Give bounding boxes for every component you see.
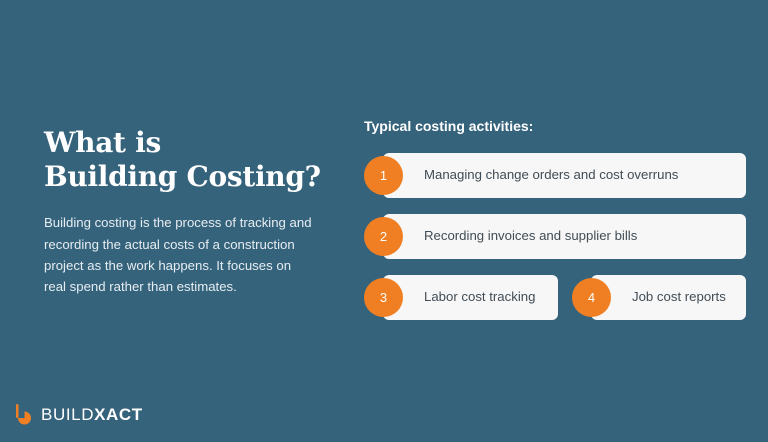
activity-badge-2: 2 — [364, 217, 403, 256]
activities-heading: Typical costing activities: — [364, 118, 746, 135]
list-item-1[interactable]: Managing change orders and cost overruns… — [364, 153, 746, 198]
description-paragraph: Building costing is the process of track… — [44, 212, 316, 298]
brand-logo: BUILDXACT — [15, 401, 143, 427]
page-title-line-2: Building Costing? — [44, 160, 344, 194]
activity-label-1: Managing change orders and cost overruns — [424, 167, 678, 183]
activity-badge-1: 1 — [364, 156, 403, 195]
activity-row-2: Recording invoices and supplier bills 2 — [364, 214, 746, 259]
brand-wordmark: BUILDXACT — [41, 406, 143, 423]
activity-row-3: Labor cost tracking 3 Job cost reports 4 — [364, 275, 746, 320]
list-item-4[interactable]: Job cost reports 4 — [572, 275, 746, 320]
activity-badge-3: 3 — [364, 278, 403, 317]
activity-row-1: Managing change orders and cost overruns… — [364, 153, 746, 198]
activities-panel: Typical costing activities: Managing cha… — [364, 118, 746, 320]
activity-label-4: Job cost reports — [632, 289, 726, 305]
brand-wordmark-build: BUILD — [41, 406, 94, 423]
activity-card-4[interactable]: Job cost reports — [591, 275, 746, 320]
activity-card-3[interactable]: Labor cost tracking — [383, 275, 558, 320]
buildxact-b-mark-icon — [15, 403, 34, 425]
activity-card-1[interactable]: Managing change orders and cost overruns — [383, 153, 746, 198]
brand-wordmark-xact: XACT — [94, 406, 143, 423]
list-item-2[interactable]: Recording invoices and supplier bills 2 — [364, 214, 746, 259]
activity-label-2: Recording invoices and supplier bills — [424, 228, 637, 244]
activity-badge-4: 4 — [572, 278, 611, 317]
left-content-panel: What is Building Costing? Building costi… — [44, 126, 344, 298]
page-title-line-1: What is — [44, 126, 344, 160]
activity-label-3: Labor cost tracking — [424, 289, 535, 305]
list-item-3[interactable]: Labor cost tracking 3 — [364, 275, 558, 320]
activities-list: Managing change orders and cost overruns… — [364, 153, 746, 320]
page-title: What is Building Costing? — [44, 126, 344, 194]
slide-canvas: What is Building Costing? Building costi… — [0, 0, 768, 442]
activity-card-2[interactable]: Recording invoices and supplier bills — [383, 214, 746, 259]
